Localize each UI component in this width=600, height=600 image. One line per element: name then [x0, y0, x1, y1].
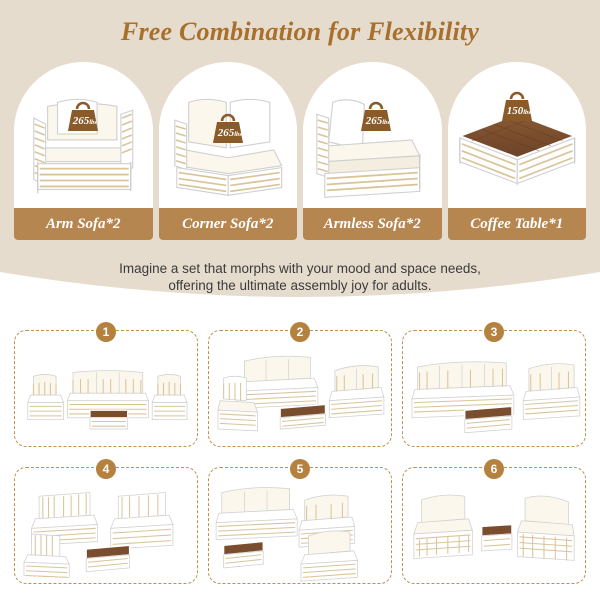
- weight-value: 265: [217, 127, 235, 139]
- weight-icon: 150 lbs: [497, 90, 537, 124]
- configuration-number: 5: [290, 459, 310, 479]
- configuration-6[interactable]: 6: [402, 459, 586, 584]
- product-card-corner-sofa[interactable]: 265 lbs Corner Sofa*2: [159, 62, 298, 240]
- configuration-1[interactable]: 1: [14, 322, 198, 447]
- coffee-table-image: 150 lbs: [448, 62, 587, 208]
- weight-value: 265: [72, 115, 90, 127]
- configuration-2[interactable]: 2: [208, 322, 392, 447]
- weight-unit: lbs: [234, 131, 242, 138]
- product-card-arm-sofa[interactable]: 265 lbs Arm Sofa*2: [14, 62, 153, 240]
- configuration-scene-2: [209, 331, 391, 446]
- tagline: Imagine a set that morphs with your mood…: [60, 260, 540, 294]
- product-card-label: Arm Sofa*2: [14, 208, 153, 240]
- configuration-scene-5: [209, 468, 391, 583]
- weight-unit: lbs: [383, 119, 391, 126]
- tagline-line-1: Imagine a set that morphs with your mood…: [60, 260, 540, 277]
- configuration-box: [208, 467, 392, 584]
- configuration-box: [402, 330, 586, 447]
- tagline-line-2: offering the ultimate assembly joy for a…: [60, 277, 540, 294]
- weight-icon: 265 lbs: [208, 112, 248, 146]
- product-card-coffee-table[interactable]: 150 lbs Coffee Table*1: [448, 62, 587, 240]
- weight-value: 150: [507, 105, 524, 117]
- weight-icon: 265 lbs: [63, 100, 103, 134]
- configuration-number: 2: [290, 322, 310, 342]
- configuration-number: 6: [484, 459, 504, 479]
- configuration-number: 4: [96, 459, 116, 479]
- configuration-box: [14, 467, 198, 584]
- configuration-box: [402, 467, 586, 584]
- weight-icon: 265 lbs: [356, 100, 396, 134]
- configuration-4[interactable]: 4: [14, 459, 198, 584]
- armless-sofa-image: 265 lbs: [303, 62, 442, 208]
- product-card-label: Coffee Table*1: [448, 208, 587, 240]
- product-card-armless-sofa[interactable]: 265 lbs Armless Sofa*2: [303, 62, 442, 240]
- corner-sofa-image: 265 lbs: [159, 62, 298, 208]
- weight-unit: lbs: [523, 109, 531, 116]
- configuration-number: 1: [96, 322, 116, 342]
- configuration-scene-6: [403, 468, 585, 583]
- page-title: Free Combination for Flexibility: [0, 17, 600, 47]
- configuration-scene-1: [15, 331, 197, 446]
- product-cards-row: 265 lbs Arm Sofa*2: [14, 62, 586, 240]
- product-card-label: Corner Sofa*2: [159, 208, 298, 240]
- configuration-scene-3: [403, 331, 585, 446]
- configuration-grid: 1: [14, 322, 586, 584]
- configuration-number: 3: [484, 322, 504, 342]
- weight-unit: lbs: [89, 119, 97, 126]
- configuration-5[interactable]: 5: [208, 459, 392, 584]
- arm-sofa-image: 265 lbs: [14, 62, 153, 208]
- weight-value: 265: [365, 115, 383, 127]
- product-card-label: Armless Sofa*2: [303, 208, 442, 240]
- configuration-box: [14, 330, 198, 447]
- configuration-3[interactable]: 3: [402, 322, 586, 447]
- configuration-box: [208, 330, 392, 447]
- configuration-scene-4: [15, 468, 197, 583]
